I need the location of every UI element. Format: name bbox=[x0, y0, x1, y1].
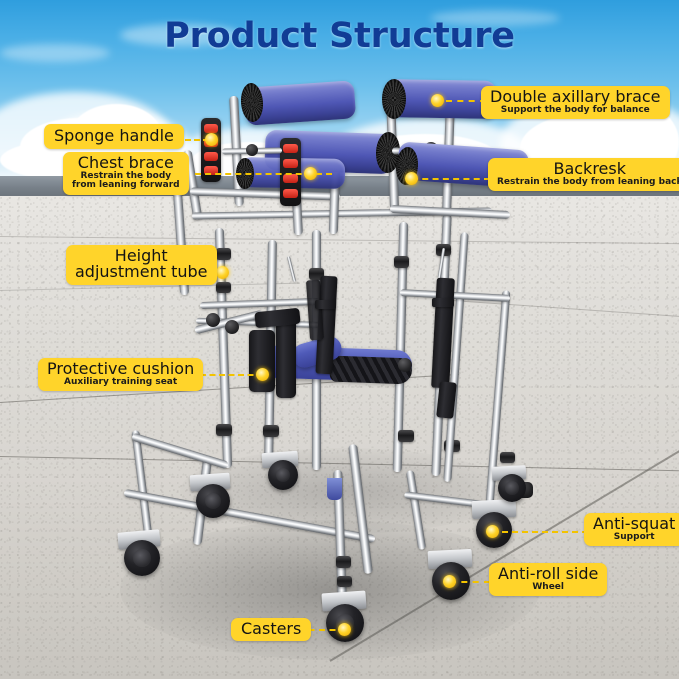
leader-dot-anti-roll bbox=[443, 575, 456, 588]
adjustment-collar bbox=[336, 556, 351, 568]
callout-anti-roll-side[interactable]: Anti-roll side Wheel bbox=[489, 563, 607, 596]
rubber-tip bbox=[327, 478, 342, 500]
sponge-handle-left bbox=[201, 118, 221, 182]
seat-side-pad-left bbox=[249, 330, 275, 392]
adjustment-collar bbox=[337, 576, 352, 587]
adjustment-collar bbox=[394, 256, 409, 268]
callout-title: Casters bbox=[241, 621, 301, 637]
callout-chest-brace[interactable]: Chest brace Restrain the body from leani… bbox=[63, 152, 189, 195]
armrest-knob bbox=[206, 313, 220, 327]
side-pad-left-end bbox=[236, 158, 254, 189]
seat-pivot-knob bbox=[225, 320, 239, 334]
strap-buckle-center bbox=[315, 300, 336, 309]
sponge-handle-right bbox=[280, 138, 301, 206]
adjustment-collar bbox=[216, 282, 231, 293]
callout-subtitle-line2: from leaning forward bbox=[72, 181, 180, 190]
caster-wheel-right-rear bbox=[498, 474, 526, 502]
infographic-canvas: Product Structure bbox=[0, 0, 679, 679]
callout-title: Protective cushion bbox=[47, 361, 194, 377]
callout-height-adjustment-tube[interactable]: Height adjustment tube bbox=[66, 245, 217, 285]
seat-side-pad-left2 bbox=[276, 318, 296, 398]
leader-dot-chest-brace bbox=[304, 167, 317, 180]
strap-buckle-right bbox=[432, 298, 454, 307]
callout-subtitle: Wheel bbox=[498, 583, 598, 592]
adjustment-collar bbox=[398, 430, 414, 442]
handle-shaft-knob bbox=[246, 144, 258, 156]
leader-dot-casters bbox=[338, 623, 351, 636]
callout-title: Chest brace bbox=[72, 155, 180, 171]
callout-anti-squat[interactable]: Anti-squat Support bbox=[584, 513, 679, 546]
adjustment-collar bbox=[500, 452, 515, 463]
adjustment-collar bbox=[216, 248, 231, 260]
caster-wheel-left-outer bbox=[124, 540, 160, 576]
callout-protective-cushion[interactable]: Protective cushion Auxiliary training se… bbox=[38, 358, 203, 391]
leader-dot-height-tube bbox=[216, 266, 229, 279]
seat-pivot-knob-right bbox=[398, 358, 412, 372]
callout-title: Double axillary brace bbox=[490, 89, 661, 105]
callout-double-axillary-brace[interactable]: Double axillary brace Support the body f… bbox=[481, 86, 670, 119]
callout-subtitle: Restrain the body from leaning back bbox=[497, 178, 679, 187]
axillary-pad-right-end bbox=[382, 79, 406, 119]
caster-wheel-left-mid bbox=[196, 484, 230, 518]
leader-dot-backresk bbox=[405, 172, 418, 185]
floor-shadow bbox=[120, 520, 540, 660]
callout-title: Anti-roll side bbox=[498, 566, 598, 582]
leader-dot-protective-cushion bbox=[256, 368, 269, 381]
callout-title: Sponge handle bbox=[54, 128, 174, 144]
callout-backresk[interactable]: Backresk Restrain the body from leaning … bbox=[488, 158, 679, 191]
leader-dot-double-axillary bbox=[431, 94, 444, 107]
leader-dot-sponge-handle bbox=[205, 133, 218, 146]
adjustment-collar bbox=[216, 424, 232, 436]
leader-dot-anti-squat bbox=[486, 525, 499, 538]
callout-casters[interactable]: Casters bbox=[231, 618, 311, 641]
callout-title: Anti-squat bbox=[593, 516, 675, 532]
callout-sponge-handle[interactable]: Sponge handle bbox=[44, 124, 184, 149]
callout-subtitle: Support the body for balance bbox=[490, 106, 661, 115]
callout-title: Backresk bbox=[497, 161, 679, 177]
caster-wheel-center bbox=[268, 460, 298, 490]
callout-subtitle: Support bbox=[593, 533, 675, 542]
callout-subtitle: Auxiliary training seat bbox=[47, 378, 194, 387]
adjustment-collar bbox=[263, 425, 279, 437]
callout-title-line2: adjustment tube bbox=[75, 264, 208, 280]
page-title: Product Structure bbox=[0, 16, 679, 56]
